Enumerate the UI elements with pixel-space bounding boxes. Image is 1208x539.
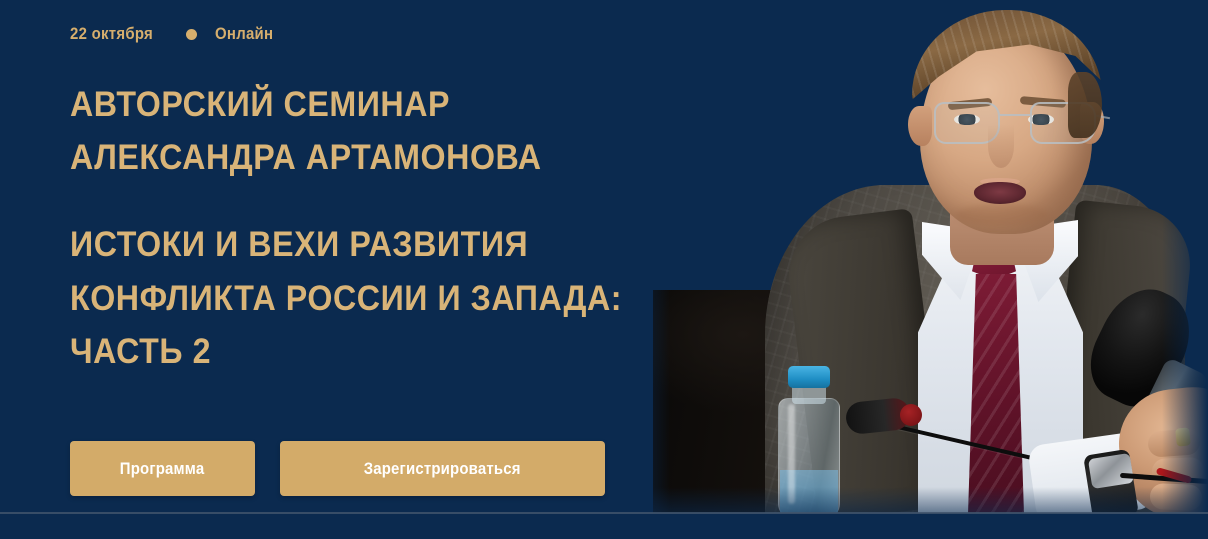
page-title: АВТОРСКИЙ СЕМИНАР АЛЕКСАНДРА АРТАМОНОВА <box>70 78 594 184</box>
nose <box>988 124 1014 168</box>
page-title-line-2: АЛЕКСАНДРА АРТАМОНОВА <box>70 131 594 184</box>
page-subtitle-line-2: КОНФЛИКТА РОССИИ И ЗАПАДА: <box>70 272 594 325</box>
event-date: 22 октября <box>70 24 153 44</box>
finger <box>1150 483 1203 511</box>
water-bottle-highlight <box>788 404 795 504</box>
hero-content: 22 октября Онлайн АВТОРСКИЙ СЕМИНАР АЛЕК… <box>0 0 640 513</box>
speaker-photo <box>600 0 1208 513</box>
page-subtitle: ИСТОКИ И ВЕХИ РАЗВИТИЯ КОНФЛИКТА РОССИИ … <box>70 218 594 378</box>
page-subtitle-line-1: ИСТОКИ И ВЕХИ РАЗВИТИЯ <box>70 218 594 271</box>
footer-strip <box>0 514 1208 539</box>
bullet-dot-icon <box>186 29 197 40</box>
glasses-bridge <box>1000 114 1030 116</box>
mouth <box>974 182 1026 204</box>
chin-shadow <box>956 204 1048 226</box>
wedding-ring-icon <box>1175 427 1191 446</box>
page-subtitle-line-3: ЧАСТЬ 2 <box>70 325 594 378</box>
sideburn-right <box>1068 72 1102 138</box>
ear-left <box>908 106 932 146</box>
seminar-hero-banner: 22 октября Онлайн АВТОРСКИЙ СЕМИНАР АЛЕК… <box>0 0 1208 539</box>
gooseneck-microphone-tip <box>900 404 922 426</box>
water-bottle-cap <box>788 366 830 388</box>
page-title-line-1: АВТОРСКИЙ СЕМИНАР <box>70 78 594 131</box>
event-format: Онлайн <box>215 24 273 44</box>
necktie <box>968 274 1024 513</box>
finger <box>1147 428 1201 458</box>
event-meta: 22 октября Онлайн <box>70 24 640 44</box>
